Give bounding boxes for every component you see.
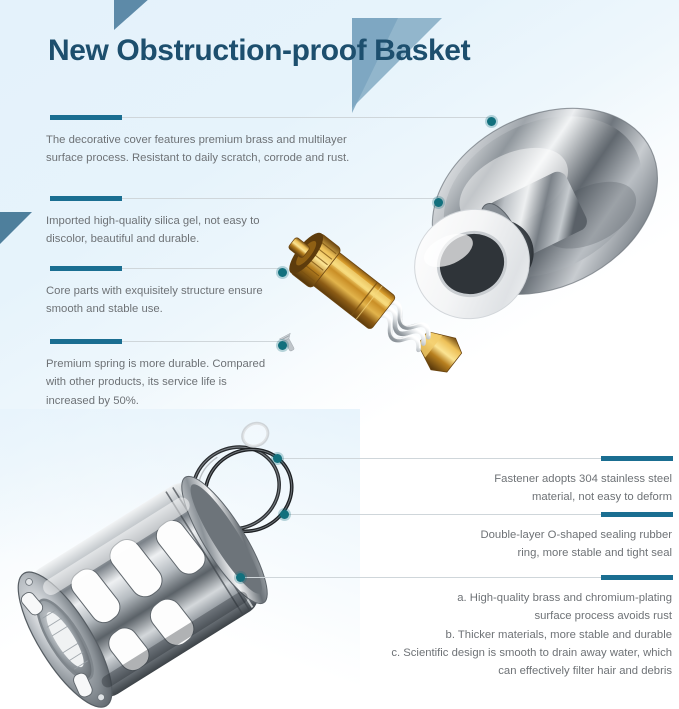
callout-line: Imported high-quality silica gel, not ea… <box>46 212 376 230</box>
callout-line: surface process avoids rust <box>252 607 672 625</box>
callout-line: increased by 50%. <box>46 392 376 410</box>
callout-line: c. Scientific design is smooth to drain … <box>252 644 672 662</box>
callout-line: b. Thicker materials, more stable and du… <box>252 626 672 644</box>
callout-rule-cap <box>50 339 122 344</box>
connector-dot-silica-gel <box>434 198 443 207</box>
callout-line: with other products, its service life is <box>46 373 376 391</box>
infographic-page: New Obstruction-proof Basket <box>0 0 679 709</box>
callout-text-decorative-cover: The decorative cover features premium br… <box>46 131 426 168</box>
callout-rule-core-parts <box>50 268 282 269</box>
callout-rule-basket-features <box>240 577 673 578</box>
callout-line: Premium spring is more durable. Compared <box>46 355 376 373</box>
callout-rule-cap <box>601 512 673 517</box>
callout-line: a. High-quality brass and chromium-plati… <box>252 589 672 607</box>
callout-rule-fastener <box>277 458 673 459</box>
callout-line: smooth and stable use. <box>46 300 376 318</box>
callout-line: material, not easy to deform <box>322 488 672 506</box>
callout-line: The decorative cover features premium br… <box>46 131 426 149</box>
callout-text-sealing-ring: Double-layer O-shaped sealing rubber rin… <box>322 526 672 563</box>
connector-dot-premium-spring <box>278 341 287 350</box>
callout-rule-premium-spring <box>50 341 282 342</box>
connector-dot-basket-features <box>236 573 245 582</box>
callout-rule-cap <box>601 575 673 580</box>
callout-rule-cap <box>601 456 673 461</box>
callout-text-silica-gel: Imported high-quality silica gel, not ea… <box>46 212 376 249</box>
callout-rule-cap <box>50 266 122 271</box>
callout-line: Double-layer O-shaped sealing rubber <box>322 526 672 544</box>
callout-text-basket-features: a. High-quality brass and chromium-plati… <box>252 589 672 680</box>
connector-dot-decorative-cover <box>487 117 496 126</box>
callout-rule-silica-gel <box>50 198 438 199</box>
callout-line: surface process. Resistant to daily scra… <box>46 149 426 167</box>
callout-text-core-parts: Core parts with exquisitely structure en… <box>46 282 376 319</box>
callout-line: can effectively filter hair and debris <box>252 662 672 680</box>
connector-dot-fastener <box>273 454 282 463</box>
callout-line: ring, more stable and tight seal <box>322 544 672 562</box>
callout-line: discolor, beautiful and durable. <box>46 230 376 248</box>
callout-rule-cap <box>50 196 122 201</box>
triangle-accent-top <box>114 0 150 30</box>
connector-dot-sealing-ring <box>280 510 289 519</box>
connector-dot-core-parts <box>278 268 287 277</box>
callout-rule-decorative-cover <box>50 117 492 118</box>
triangle-accent-left <box>0 212 32 246</box>
callout-rule-cap <box>50 115 122 120</box>
callout-line: Core parts with exquisitely structure en… <box>46 282 376 300</box>
callout-text-fastener: Fastener adopts 304 stainless steel mate… <box>322 470 672 507</box>
callout-text-premium-spring: Premium spring is more durable. Compared… <box>46 355 376 410</box>
callout-rule-sealing-ring <box>284 514 673 515</box>
callout-line: Fastener adopts 304 stainless steel <box>322 470 672 488</box>
page-title: New Obstruction-proof Basket <box>48 34 470 68</box>
